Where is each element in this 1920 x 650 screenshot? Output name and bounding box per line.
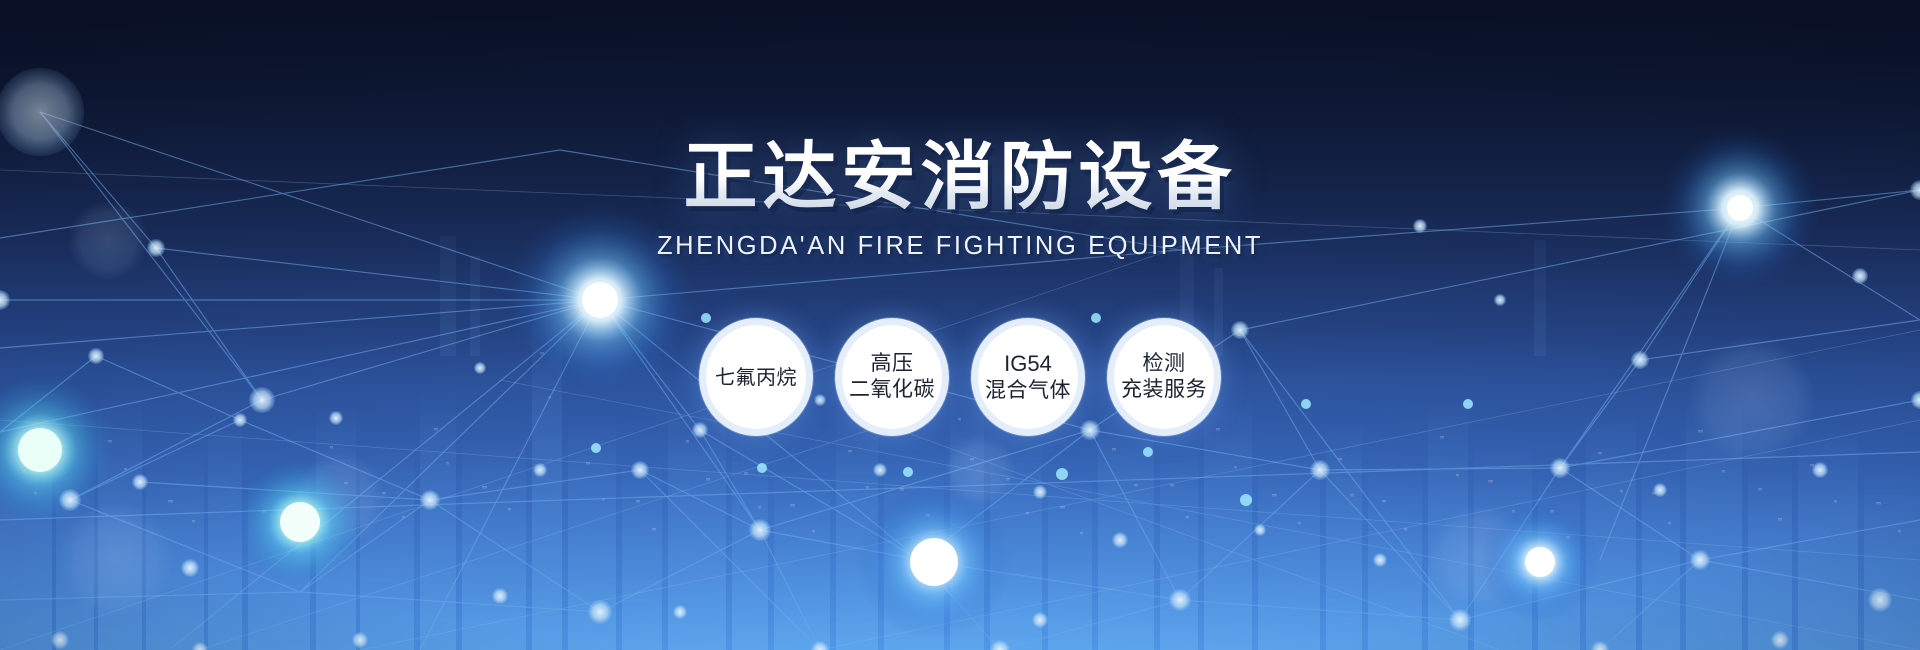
banner-content: 正达安消防设备 ZHENGDA'AN FIRE FIGHTING EQUIPME… — [0, 0, 1920, 650]
badge-label: 检测 — [1143, 351, 1186, 377]
badge-label: IG54 — [1004, 351, 1052, 378]
badge-heptafluoropropane[interactable]: 七氟丙烷 — [699, 318, 813, 436]
badge-label: 高压 — [871, 351, 914, 377]
badge-label: 七氟丙烷 — [715, 365, 797, 389]
banner-subtitle: ZHENGDA'AN FIRE FIGHTING EQUIPMENT — [0, 232, 1920, 261]
banner-title: 正达安消防设备 — [0, 138, 1920, 216]
badge-inspection-filling-service[interactable]: 检测充装服务 — [1107, 318, 1221, 436]
hero-banner: 正达安消防设备 ZHENGDA'AN FIRE FIGHTING EQUIPME… — [0, 0, 1920, 650]
badge-label: 混合气体 — [985, 378, 1071, 404]
badge-high-pressure-co2[interactable]: 高压二氧化碳 — [835, 318, 949, 436]
badge-ig54-mixed-gas[interactable]: IG54混合气体 — [971, 318, 1085, 436]
headline-block: 正达安消防设备 ZHENGDA'AN FIRE FIGHTING EQUIPME… — [0, 138, 1920, 261]
badge-label: 充装服务 — [1121, 377, 1207, 403]
badge-list: 七氟丙烷高压二氧化碳IG54混合气体检测充装服务 — [0, 318, 1920, 436]
badge-label: 二氧化碳 — [849, 377, 935, 403]
